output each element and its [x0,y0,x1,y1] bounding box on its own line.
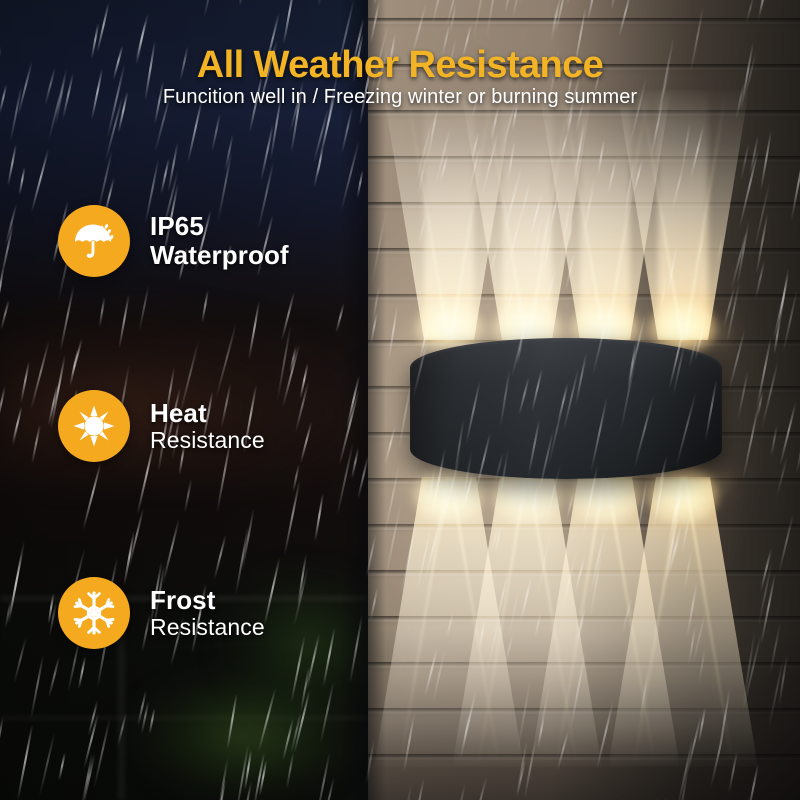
feature-subtitle: Resistance [150,615,265,641]
product-feature-image: All Weather Resistance Funcition well in… [0,0,800,800]
umbrella-rain-icon-badge [58,205,130,277]
feature-title: IP65 [150,212,289,241]
feature-item-frost: Frost Resistance [58,577,265,649]
snowflake-icon [70,589,118,637]
snowflake-icon-badge [58,577,130,649]
feature-text-waterproof: IP65 Waterproof [150,212,289,270]
wall-lamp-body [410,338,722,479]
feature-subtitle: Waterproof [150,241,289,270]
feature-text-heat: Heat Resistance [150,399,265,454]
umbrella-rain-icon [71,218,117,264]
feature-subtitle: Resistance [150,428,265,454]
night-wall-seam [340,0,386,800]
sun-icon-badge [58,390,130,462]
feature-item-waterproof: IP65 Waterproof [58,205,289,277]
page-subtitle: Funcition well in / Freezing winter or b… [0,86,800,109]
feature-item-heat: Heat Resistance [58,390,265,462]
lamp-surface-sheen [410,338,722,479]
sun-icon [71,403,117,449]
feature-title: Heat [150,399,265,428]
page-title: All Weather Resistance [0,44,800,87]
feature-title: Frost [150,586,265,615]
feature-text-frost: Frost Resistance [150,586,265,641]
